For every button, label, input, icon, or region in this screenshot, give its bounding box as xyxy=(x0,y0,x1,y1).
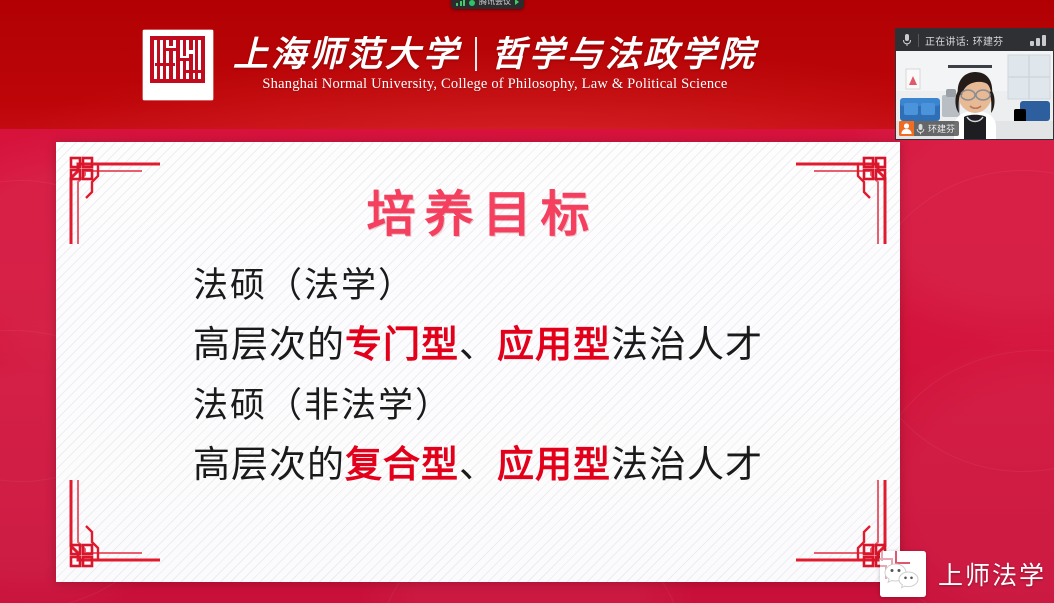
slide-text-highlight: 专门型 xyxy=(345,322,459,366)
slide-line: 法硕（非法学） xyxy=(193,387,763,426)
slide-text-highlight: 复合型 xyxy=(345,442,459,486)
slide-text-segment: 、 xyxy=(459,443,497,486)
participant-avatar-icon xyxy=(899,121,914,136)
slide-text-segment: 法硕（法学） xyxy=(193,266,415,306)
wechat-watermark: 上师法学 xyxy=(880,551,1046,597)
slide-lines-container: 法硕（法学）高层次的专门型、应用型法治人才法硕（非法学）高层次的复合型、应用型法… xyxy=(193,267,763,485)
microphone-muted-icon xyxy=(914,121,927,136)
slide-text-segment: 法治人才 xyxy=(611,323,763,366)
expand-arrow-icon[interactable] xyxy=(515,0,519,5)
page-title: 培养目标 xyxy=(357,190,598,239)
signal-bars-icon xyxy=(456,0,465,8)
header-title-cn-right: 哲学与法政学院 xyxy=(491,37,757,72)
slide-content-panel: 培养目标 法硕（法学）高层次的专门型、应用型法治人才法硕（非法学）高层次的复合型… xyxy=(56,142,900,582)
screen-share-stage: 上海师范大学 哲学与法政学院 Shanghai Normal Universit… xyxy=(0,0,1054,603)
slide-text-segment: 高层次的 xyxy=(193,443,345,486)
recording-dot-icon xyxy=(469,0,475,6)
slide-text-segment: 法治人才 xyxy=(611,443,763,486)
meeting-status-pill[interactable]: 腾讯会议 xyxy=(451,0,524,9)
slide-text-segment: 高层次的 xyxy=(193,323,345,366)
header-title-en: Shanghai Normal University, College of P… xyxy=(262,76,727,93)
slide-text-segment: 、 xyxy=(459,323,497,366)
video-thumbnail-topbar: 正在讲话: 环建芬 xyxy=(896,29,1053,51)
slide-line: 高层次的专门型、应用型法治人才 xyxy=(193,324,763,366)
topbar-divider xyxy=(918,34,919,47)
video-feed[interactable]: 环建芬 xyxy=(896,51,1053,139)
wechat-logo-icon xyxy=(880,551,926,597)
microphone-icon[interactable] xyxy=(902,33,912,47)
slide-text-highlight: 应用型 xyxy=(497,442,611,486)
signal-strength-icon xyxy=(1030,35,1047,46)
slide-text-body: 培养目标 法硕（法学）高层次的专门型、应用型法治人才法硕（非法学）高层次的复合型… xyxy=(56,142,900,582)
slide-line: 法硕（法学） xyxy=(193,267,763,306)
speaking-label: 正在讲话: 环建芬 xyxy=(925,33,1024,48)
participant-name-label: 环建芬 xyxy=(927,122,959,135)
university-seal-icon xyxy=(143,30,213,100)
slide-text-highlight: 应用型 xyxy=(497,322,611,366)
slide-text-segment: 法硕（非法学） xyxy=(193,386,452,426)
meeting-status-label: 腾讯会议 xyxy=(479,0,511,8)
watermark-label: 上师法学 xyxy=(938,556,1046,592)
video-thumbnail[interactable]: 正在讲话: 环建芬 xyxy=(895,28,1054,140)
participant-name-badge: 环建芬 xyxy=(899,121,959,136)
header-title-divider xyxy=(475,37,477,71)
header-title-cn-left: 上海师范大学 xyxy=(233,37,461,72)
slide-line: 高层次的复合型、应用型法治人才 xyxy=(193,444,763,486)
